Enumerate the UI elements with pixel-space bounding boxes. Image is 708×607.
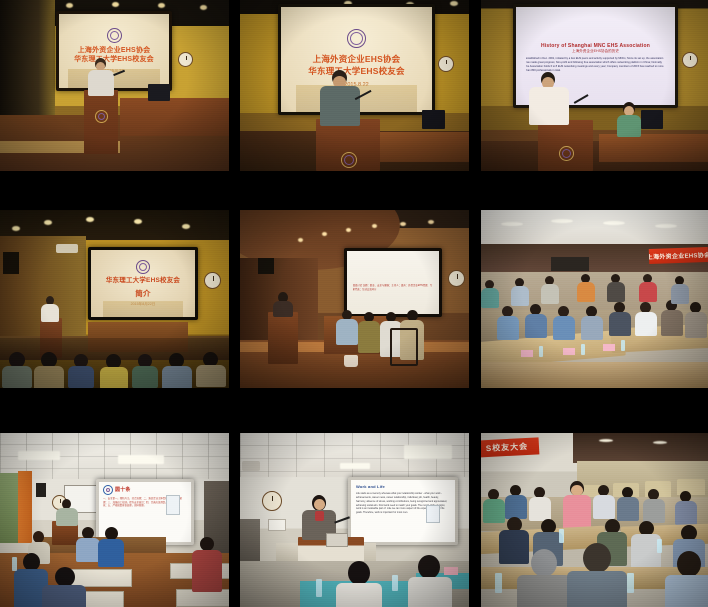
slide-logo — [103, 485, 113, 495]
moderator-torso — [273, 301, 293, 317]
ceiling-light — [603, 221, 625, 225]
ceiling-light — [66, 3, 73, 8]
event-banner: 上海外资企业EHS协会 — [649, 247, 708, 264]
photo-9-scene: S校友大会 — [481, 433, 708, 607]
student — [98, 527, 124, 565]
presenter-face — [314, 499, 325, 510]
water-bottle — [559, 529, 564, 543]
audience-member-front — [517, 549, 571, 607]
audience-torso — [68, 366, 94, 388]
audience-torso — [567, 571, 627, 607]
photo-cell-1[interactable]: 上海外资企业EHS协会 华东理工大学EHS校友会 2015.8.22 — [0, 0, 229, 171]
audience-member — [100, 354, 128, 388]
audience-torso — [665, 575, 708, 607]
wall-clock — [448, 270, 465, 287]
ceiling-light — [200, 5, 207, 10]
audience-head — [531, 549, 557, 577]
name-card — [521, 350, 533, 357]
poster — [426, 505, 440, 523]
audience-member — [617, 487, 639, 519]
audience-torso — [553, 316, 575, 340]
student-torso — [76, 538, 100, 562]
audience-torso — [581, 316, 603, 340]
student-head — [55, 567, 75, 587]
ceiling-light — [86, 217, 94, 222]
audience-member — [481, 280, 499, 306]
slide-title: Work and Life — [356, 484, 385, 489]
wall-clock — [438, 56, 454, 72]
speaker-cabinet — [3, 252, 19, 274]
panelist-torso — [358, 321, 380, 353]
slide-body: 圆桌讨论 议题：职业、安全与健康；主持人；嘉宾：外资企业EHS经理、专家代表；互… — [353, 284, 434, 291]
university-seal — [136, 260, 150, 274]
poster — [166, 495, 180, 515]
audience-member — [525, 304, 547, 336]
monitor — [641, 110, 663, 129]
ceiling-light — [655, 224, 677, 228]
photo-cell-6[interactable]: 上海外资企业EHS协会 — [481, 210, 708, 388]
student-torso — [192, 550, 222, 592]
water-bottle — [621, 340, 625, 351]
photo-cell-8[interactable]: Work and Life Life starts as a memory wh… — [240, 433, 469, 607]
ceiling-light — [400, 222, 406, 226]
podium-emblem — [341, 152, 357, 168]
audience-torso — [511, 286, 529, 306]
water-bottle — [392, 575, 398, 591]
ceiling-light — [372, 224, 377, 228]
slide-title: 圆十条 — [115, 487, 131, 494]
ceiling-light — [428, 220, 434, 224]
photo-1-scene: 上海外资企业EHS协会 华东理工大学EHS校友会 2015.8.22 — [0, 0, 229, 171]
audience-torso — [643, 499, 665, 523]
student-torso — [336, 583, 382, 607]
projection-screen: 圆桌讨论 议题：职业、安全与健康；主持人；嘉宾：外资企业EHS经理、专家代表；互… — [344, 248, 442, 317]
slide-title-line2: 简介 — [135, 289, 150, 299]
photo-cell-3[interactable]: History of Shanghai MNC EHS Association … — [481, 0, 708, 171]
event-banner: S校友大会 — [481, 437, 539, 457]
ceiling-light — [322, 232, 327, 236]
trainer-torso — [56, 508, 78, 526]
head-table — [120, 98, 229, 136]
ceiling-light-panel — [340, 463, 370, 469]
photo-7-scene: 圆十条 一、安全第一，预防为主，综合治理；二、落实企业主体责任，强化现场管理；三… — [0, 433, 229, 607]
speaker — [86, 58, 116, 98]
speaker-torso — [41, 304, 59, 322]
speaker — [40, 296, 60, 322]
slide-title-line1: 上海外资企业EHS协会 — [313, 54, 401, 65]
water-bottle — [12, 557, 17, 571]
ceiling-light — [450, 1, 458, 6]
audience-torso — [635, 312, 657, 336]
photo-cell-4[interactable]: 华东理工大学EHS校友会 简介 2015年8月22日 — [0, 210, 229, 388]
student-torso — [42, 585, 86, 607]
audience-torso — [685, 312, 707, 338]
podium-emblem — [559, 146, 574, 161]
audience-member — [34, 352, 64, 388]
photo-cell-5[interactable]: 圆桌讨论 议题：职业、安全与健康；主持人；嘉宾：外资企业EHS经理、专家代表；互… — [240, 210, 469, 388]
projector — [56, 244, 78, 253]
audience-torso — [34, 366, 64, 388]
student — [408, 555, 452, 607]
chair — [390, 328, 418, 366]
head-table — [599, 134, 708, 162]
speaker-box — [36, 483, 46, 497]
audience-torso — [481, 288, 499, 308]
photo-8-scene: Work and Life Life starts as a memory wh… — [240, 433, 469, 607]
audience-member — [607, 274, 625, 300]
audience-member — [581, 306, 603, 338]
water-bottle — [495, 573, 502, 593]
audience-member — [162, 353, 192, 388]
speaker-torso — [320, 86, 360, 126]
audience-member-front — [567, 543, 627, 607]
speaker-torso — [88, 70, 114, 96]
student — [42, 567, 86, 607]
ceiling-light-panel — [18, 451, 60, 460]
ceiling-light — [44, 220, 52, 225]
panelist — [336, 310, 358, 344]
audience-member — [132, 354, 158, 386]
ceiling-light — [599, 439, 613, 442]
audience-torso — [196, 365, 226, 387]
audience-torso — [671, 284, 689, 304]
photo-4-scene: 华东理工大学EHS校友会 简介 2015年8月22日 — [0, 210, 229, 388]
audience-head — [677, 551, 701, 577]
student-head — [418, 555, 440, 579]
moderator — [272, 292, 294, 316]
audience-torso — [162, 366, 192, 388]
student — [336, 561, 382, 607]
photo-6-scene: 上海外资企业EHS协会 — [481, 210, 708, 388]
audience-torso — [541, 284, 559, 304]
seated-colleague — [616, 102, 642, 136]
wall-clock — [682, 52, 698, 68]
water-bottle — [627, 573, 634, 593]
audience-member — [577, 274, 595, 300]
photo-cell-7[interactable]: 圆十条 一、安全第一，预防为主，综合治理；二、落实企业主体责任，强化现场管理；三… — [0, 433, 229, 607]
laptop — [326, 533, 348, 547]
student-head — [348, 561, 370, 585]
ceiling-light — [653, 441, 667, 444]
student-torso — [408, 577, 452, 607]
monitor — [148, 84, 170, 101]
projection-screen: 华东理工大学EHS校友会 简介 2015年8月22日 — [88, 247, 198, 320]
water-bottle — [581, 344, 585, 355]
audience-member — [2, 352, 32, 386]
audience-torso — [577, 282, 595, 302]
photo-cell-2[interactable]: 上海外资企业EHS协会 华东理工大学EHS校友会 2015.8.22 — [240, 0, 469, 171]
podium — [268, 312, 298, 364]
audience-torso — [505, 495, 527, 519]
speaker-cabinet — [258, 258, 274, 274]
audience-member — [661, 300, 683, 334]
handbag — [344, 355, 358, 367]
panelist-torso — [336, 319, 358, 345]
audience-member — [643, 489, 665, 521]
slide-title-line1: 华东理工大学EHS校友会 — [106, 277, 180, 286]
water-bottle — [657, 539, 662, 553]
ceiling-light — [182, 224, 190, 229]
photo-5-scene: 圆桌讨论 议题：职业、安全与健康；主持人；嘉宾：外资企业EHS经理、专家代表；互… — [240, 210, 469, 388]
slide-title-line1: 上海外资企业EHS协会 — [78, 46, 151, 55]
photo-grid: 上海外资企业EHS协会 华东理工大学EHS校友会 2015.8.22 — [0, 0, 708, 607]
audience-member — [68, 354, 94, 386]
ceiling-light — [134, 219, 142, 224]
audience-torso — [593, 495, 615, 519]
audience-torso — [617, 497, 639, 521]
monitor — [422, 110, 445, 129]
audience-member — [196, 352, 226, 386]
audience-member — [529, 487, 551, 519]
ceiling-light — [112, 2, 119, 7]
audience-member — [497, 306, 519, 338]
wall-clock — [204, 272, 221, 289]
audience-torso — [529, 497, 551, 521]
door — [240, 519, 260, 567]
colleague-torso — [617, 115, 641, 137]
slide-building-art — [103, 301, 182, 317]
audience-member — [635, 302, 657, 334]
poster — [268, 519, 286, 531]
presenter-scarf — [315, 511, 324, 521]
audience-torso — [607, 282, 625, 302]
audience-torso — [525, 314, 547, 338]
university-seal — [347, 29, 366, 48]
audience-member — [671, 276, 689, 302]
desk-row-front — [481, 362, 708, 388]
water-bottle — [316, 579, 322, 597]
dark-wood-panel — [573, 433, 708, 463]
student-torso — [98, 539, 124, 567]
audience-member — [685, 302, 707, 336]
university-seal — [107, 28, 122, 43]
audience-member — [505, 485, 527, 517]
ceiling-light-panel — [404, 445, 452, 459]
projection-screen: Work and Life Life starts as a memory wh… — [348, 477, 458, 545]
slide-title-line2: 上海外资企业EHS协会的历史 — [572, 49, 619, 54]
audience-torso — [661, 310, 683, 336]
name-card — [563, 348, 575, 355]
slide-body: Established in Dec. 2001, initiated by a… — [526, 57, 666, 73]
student — [192, 537, 222, 591]
trainer — [56, 499, 78, 525]
ceiling-light — [346, 228, 351, 232]
audience-member — [511, 278, 529, 304]
audience-torso — [100, 367, 128, 388]
audience-member — [593, 485, 615, 517]
ceiling-light — [158, 3, 165, 8]
head-table — [373, 132, 469, 162]
student-head — [200, 537, 214, 551]
podium-emblem — [95, 110, 108, 123]
panelist — [358, 312, 380, 352]
audience-torso — [639, 282, 657, 302]
audience-torso — [132, 366, 158, 388]
audience-member — [675, 491, 697, 523]
ceiling-light — [298, 238, 303, 242]
photo-3-scene: History of Shanghai MNC EHS Association … — [481, 0, 708, 171]
audience-member — [553, 306, 575, 338]
audience-torso — [517, 575, 571, 607]
photo-cell-9[interactable]: S校友大会 — [481, 433, 708, 607]
audience-torso — [2, 366, 32, 388]
ceiling-light — [501, 222, 523, 226]
presenter — [529, 72, 569, 124]
wall-clock — [262, 491, 282, 511]
ac-unit — [242, 461, 260, 471]
presenter-torso — [529, 87, 569, 125]
audience-member — [541, 276, 559, 302]
ceiling-light — [12, 226, 20, 231]
audience-torso — [497, 316, 519, 340]
ceiling-light — [551, 219, 573, 223]
audience-member — [609, 302, 631, 334]
audience-member-front — [665, 551, 708, 607]
wall-screen — [551, 257, 589, 271]
audience-torso — [609, 312, 631, 336]
wall-clock — [178, 52, 193, 67]
audience-head — [583, 543, 611, 573]
ceiling-light-panel — [118, 455, 164, 464]
student — [76, 527, 100, 559]
photo-2-scene: 上海外资企业EHS协会 华东理工大学EHS校友会 2015.8.22 — [240, 0, 469, 171]
audience-member — [639, 274, 657, 300]
name-card — [603, 344, 615, 351]
audience-torso — [675, 501, 697, 525]
water-bottle — [539, 346, 543, 357]
